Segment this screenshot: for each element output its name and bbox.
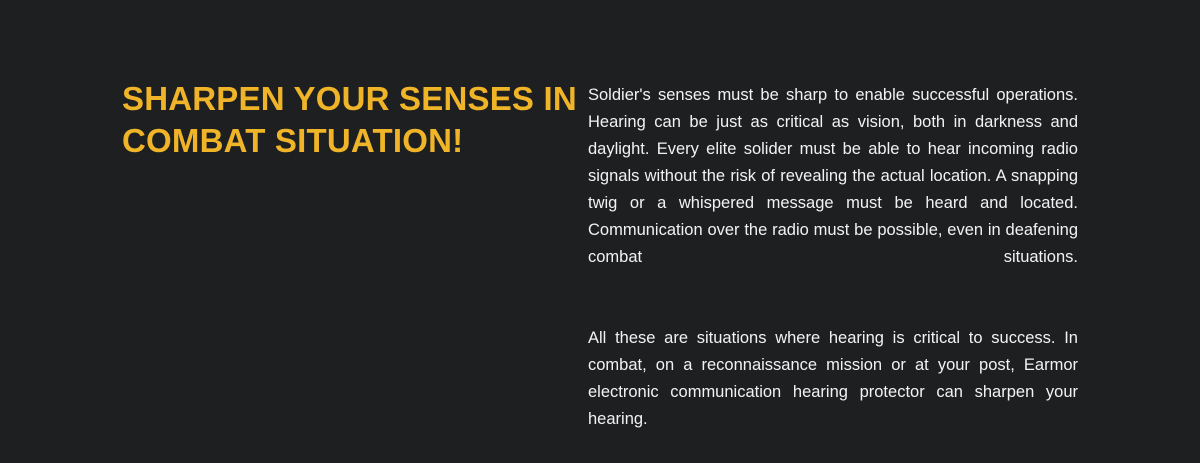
media-placeholder (122, 176, 577, 438)
body-paragraph: All these are situations where hearing i… (588, 325, 1078, 460)
headline-column: SHARPEN YOUR SENSES IN COMBAT SITUATION! (122, 78, 577, 162)
body-copy-column: Soldier's senses must be sharp to enable… (588, 82, 1078, 460)
body-paragraph: Soldier's senses must be sharp to enable… (588, 82, 1078, 298)
promo-banner: SHARPEN YOUR SENSES IN COMBAT SITUATION!… (0, 0, 1200, 463)
page-title: SHARPEN YOUR SENSES IN COMBAT SITUATION! (122, 78, 577, 162)
